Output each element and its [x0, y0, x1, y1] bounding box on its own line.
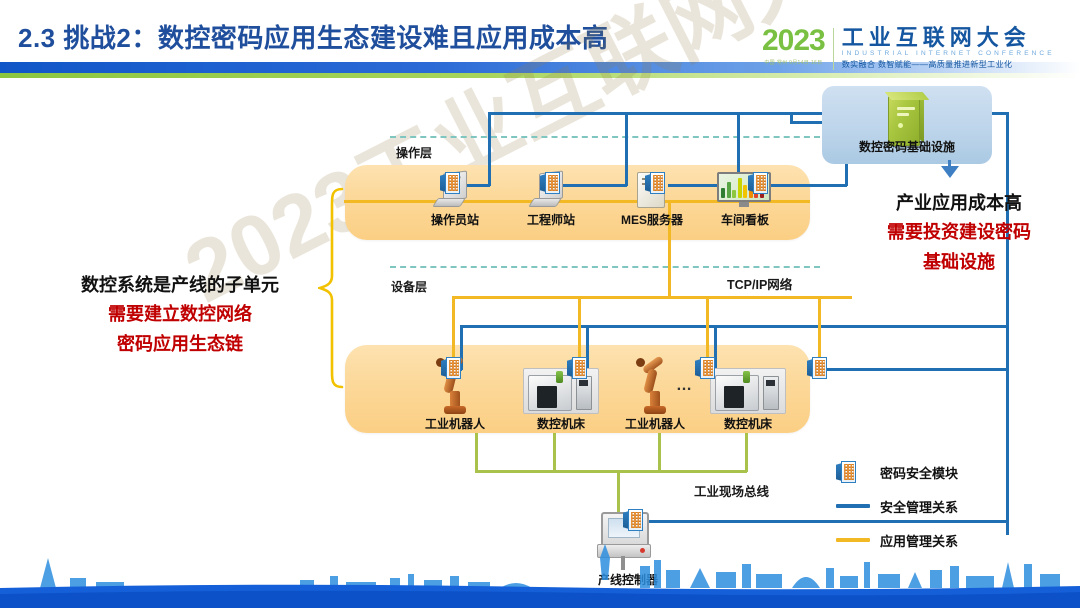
robot-arm-icon [634, 352, 676, 414]
callout-left-line2: 需要建立数控网络 [40, 300, 320, 330]
slide-canvas: 2.3 挑战2：数控密码应用生态建设难且应用成本高 2023 中国·常州 9月1… [0, 0, 1080, 608]
app-bus-device [452, 296, 852, 299]
node-label: 工业机器人 [625, 415, 685, 432]
crypto-module-icon [695, 357, 715, 379]
logo-slogan: 数实融合 数智赋能——高质量推进新型工业化 [842, 59, 1055, 70]
crypto-module-icon [540, 172, 560, 194]
callout-right-line3: 基础设施 [846, 248, 1072, 278]
security-infra-drop [790, 113, 793, 123]
crypto-module-icon [440, 172, 460, 194]
device-ellipsis: … [676, 377, 694, 395]
logo-name-en: INDUSTRIAL INTERNET CONFERENCE [842, 49, 1055, 59]
node-label: 车间看板 [721, 211, 769, 228]
grouping-brace [318, 186, 344, 390]
callout-left-line3: 密码应用生态链 [40, 330, 320, 360]
ctrl-riser-1 [475, 433, 478, 472]
header-divider-green [0, 73, 1080, 78]
node-label: 产线控制器 [598, 571, 658, 588]
callout-left-line1: 数控系统是产线的子单元 [40, 272, 320, 300]
ctrl-riser-3 [658, 433, 661, 472]
logo-year-block: 2023 中国·常州 9月14日-16日 [762, 26, 833, 66]
logo-year: 2023 [762, 26, 825, 56]
legend-item-crypto-module: 密码安全模块 [836, 455, 1016, 489]
logo-date: 中国·常州 9月14日-16日 [764, 59, 822, 66]
node-label: 数控机床 [537, 415, 585, 432]
legend-label: 安全管理关系 [880, 497, 958, 516]
ctrl-bus [475, 470, 747, 473]
legend-key [836, 538, 880, 542]
arrow-down-icon [941, 166, 959, 178]
legend-label: 密码安全模块 [880, 463, 958, 482]
logo-name-cn: 工业互联网大会 [842, 26, 1055, 49]
legend-label: 应用管理关系 [880, 531, 958, 550]
crypto-module-icon [567, 357, 587, 379]
node-workshop-dashboard[interactable]: 车间看板 [700, 170, 790, 228]
operation-layer-label: 操作层 [396, 144, 432, 161]
device-layer-label: 设备层 [391, 278, 427, 295]
cnc-machine-icon [523, 352, 599, 414]
fieldbus-label: 工业现场总线 [694, 481, 769, 500]
security-bus-device [460, 325, 1008, 328]
logo-title-block: 工业互联网大会 INDUSTRIAL INTERNET CONFERENCE 数… [842, 26, 1055, 70]
legend-item-security-relation: 安全管理关系 [836, 489, 1016, 523]
node-cnc-machine-2[interactable]: 数控机床 [703, 352, 793, 432]
callout-right-line2: 需要投资建设密码 [846, 218, 1072, 248]
crypto-module-icon [623, 509, 643, 531]
callout-left: 数控系统是产线的子单元 需要建立数控网络 密码应用生态链 [40, 272, 320, 359]
node-label: 操作员站 [431, 211, 479, 228]
layer-separator-top [390, 136, 820, 138]
crypto-module-icon [748, 172, 768, 194]
crypto-module-icon [645, 172, 665, 194]
legend-key [836, 461, 880, 483]
tcpip-network-label: TCP/IP网络 [727, 274, 792, 293]
node-cnc-machine-1[interactable]: 数控机床 [516, 352, 606, 432]
ctrl-riser-4 [745, 433, 748, 472]
legend-key [836, 504, 880, 508]
security-tap-dev4 [826, 368, 1008, 371]
node-label: 工程师站 [527, 211, 575, 228]
application-line-swatch [836, 538, 870, 542]
ctrl-riser-2 [553, 433, 556, 472]
node-label: MES服务器 [621, 211, 683, 228]
legend-item-application-relation: 应用管理关系 [836, 523, 1016, 557]
logo-divider [833, 28, 834, 70]
legend: 密码安全模块 安全管理关系 应用管理关系 [836, 455, 1016, 557]
layer-separator-middle [390, 266, 820, 268]
crypto-infrastructure-label: 数控密码基础设施 [822, 138, 992, 155]
crypto-module-icon [441, 357, 461, 379]
node-label: 数控机床 [724, 415, 772, 432]
security-line-swatch [836, 504, 870, 508]
crypto-module-icon [836, 461, 856, 483]
page-title: 2.3 挑战2：数控密码应用生态建设难且应用成本高 [18, 18, 608, 55]
cnc-machine-icon [710, 352, 786, 414]
crypto-module-icon [807, 357, 827, 379]
callout-right: 产业应用成本高 需要投资建设密码 基础设施 [846, 190, 1072, 277]
conference-logo: 2023 中国·常州 9月14日-16日 工业互联网大会 INDUSTRIAL … [762, 26, 1072, 72]
node-label: 工业机器人 [425, 415, 485, 432]
callout-right-line1: 产业应用成本高 [846, 190, 1072, 218]
